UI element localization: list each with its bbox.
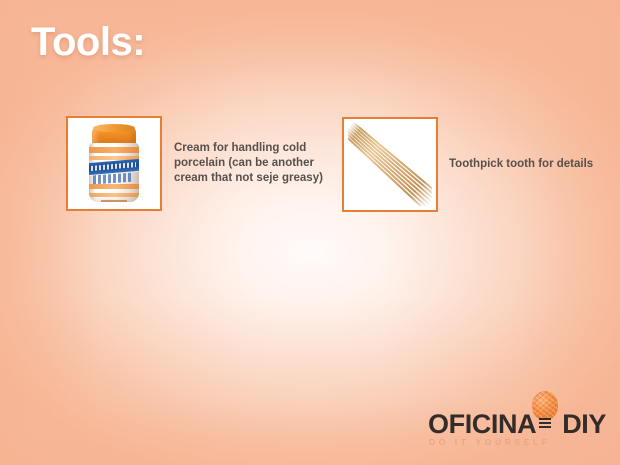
cream-photo xyxy=(72,122,156,205)
toothpick-caption: Toothpick tooth for details xyxy=(449,157,593,172)
brand-logo[interactable]: OFICINA DIY DO IT YOURSELF xyxy=(428,392,606,450)
cream-jar-icon xyxy=(89,126,139,202)
cream-thumbnail-frame[interactable] xyxy=(66,116,162,211)
jar-body xyxy=(89,143,139,202)
slide-canvas: Tools: Cream xyxy=(0,0,620,465)
cream-caption: Cream for handling cold porcelain (can b… xyxy=(174,141,326,187)
lightbulb-base xyxy=(539,418,551,429)
lightbulb-icon xyxy=(530,391,560,429)
lightbulb-glass xyxy=(532,391,558,420)
toothpick-photo xyxy=(348,123,432,206)
toothpick xyxy=(348,127,432,203)
toothpick-thumbnail-frame[interactable] xyxy=(342,117,438,212)
jar-lid-top xyxy=(93,124,135,132)
jar-stripe xyxy=(89,147,139,153)
logo-word-left: OFICINA xyxy=(428,409,536,440)
logo-wordmark: OFICINA DIY xyxy=(428,409,606,440)
tool-item-cream: Cream for handling cold porcelain (can b… xyxy=(66,116,326,211)
logo-word-right: DIY xyxy=(562,409,606,440)
page-title: Tools: xyxy=(31,20,145,65)
toothpick-bundle-icon xyxy=(348,123,432,206)
tool-item-toothpick: Toothpick tooth for details xyxy=(342,117,593,212)
toothpick xyxy=(349,125,432,200)
jar-label-footnote xyxy=(101,200,127,202)
logo-tagline: DO IT YOURSELF xyxy=(429,437,605,447)
jar-stripe xyxy=(89,184,139,189)
jar-stripe xyxy=(89,193,139,197)
